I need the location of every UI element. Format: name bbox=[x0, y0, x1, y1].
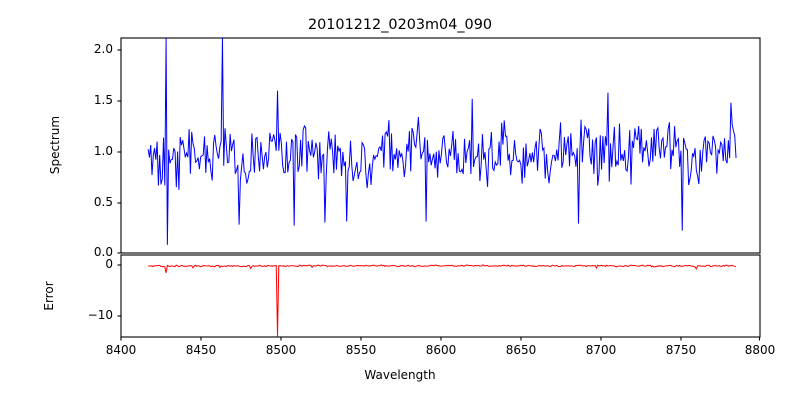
xtick-label-1: 8450 bbox=[171, 343, 231, 357]
plot-canvas bbox=[0, 0, 800, 400]
xtick-label-7: 8750 bbox=[651, 343, 711, 357]
xtick-label-3: 8550 bbox=[331, 343, 391, 357]
x-axis-label: Wavelength bbox=[0, 368, 800, 382]
xtick-label-4: 8600 bbox=[411, 343, 471, 357]
xtick-label-2: 8500 bbox=[251, 343, 311, 357]
ytick-label-spectrum-3: 0.5 bbox=[53, 195, 113, 209]
upper-axes-frame bbox=[121, 38, 760, 253]
ytick-label-spectrum-0: 2.0 bbox=[53, 42, 113, 56]
lower-axes-frame bbox=[121, 255, 760, 337]
ytick-label-spectrum-2: 1.0 bbox=[53, 144, 113, 158]
ytick-label-spectrum-1: 1.5 bbox=[53, 93, 113, 107]
ytick-label-error-1: −10 bbox=[53, 308, 113, 322]
spectrum-data-line bbox=[148, 38, 736, 245]
ytick-label-error-0: 0 bbox=[53, 257, 113, 271]
matplotlib-figure: 20101212_0203m04_090 Spectrum Error Wave… bbox=[0, 0, 800, 400]
xtick-label-0: 8400 bbox=[91, 343, 151, 357]
error-data-line bbox=[148, 265, 736, 337]
xtick-label-8: 8800 bbox=[730, 343, 790, 357]
xtick-label-6: 8700 bbox=[571, 343, 631, 357]
xtick-label-5: 8650 bbox=[491, 343, 551, 357]
